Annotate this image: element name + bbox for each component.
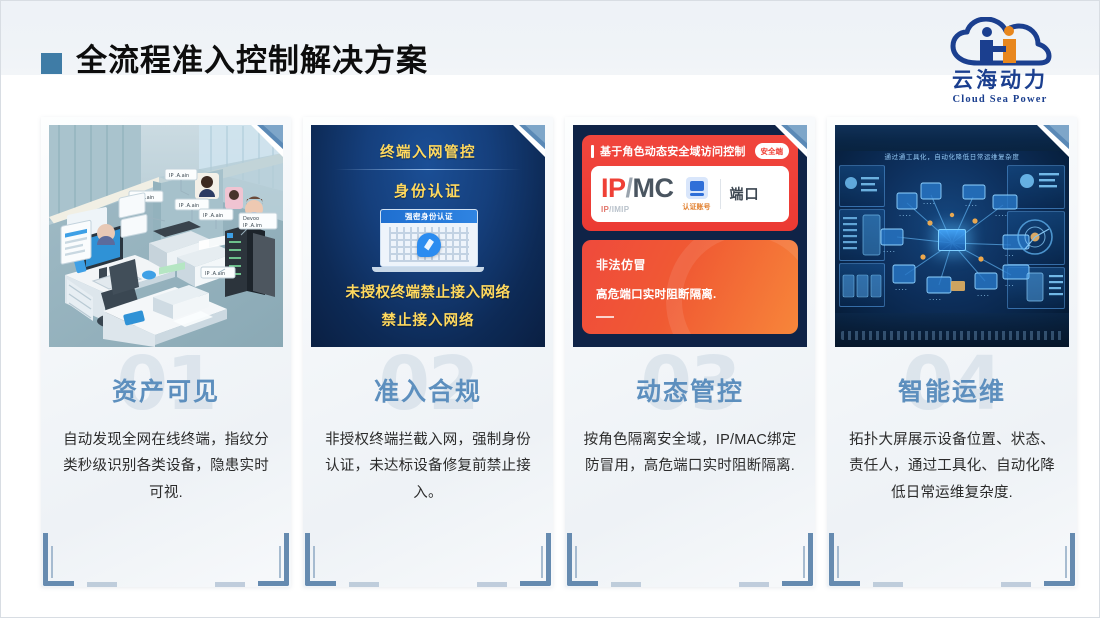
auth-line-1: 未授权终端禁止接入网络 (311, 281, 545, 302)
auth-line-2: 禁止接入网络 (311, 309, 545, 330)
ip-mc-label: IP/MC (601, 175, 674, 202)
vertical-divider (720, 179, 721, 209)
rbac-bottom-line-1: 非法仿冒 (596, 256, 784, 273)
imip-small-text: /IMIP (609, 205, 629, 214)
rbac-bottom-dash (596, 316, 614, 318)
feature-card-asset-visibility[interactable]: IP .A.ain IP .A.ain IP .A.ain IP .A.ain … (41, 117, 291, 587)
page-title-row: 全流程准入控制解决方案 (41, 45, 428, 76)
card-4-title: 智能运维 (845, 379, 1059, 407)
slide: 全流程准入控制解决方案 云海动力 Cloud Sea Power (0, 0, 1100, 618)
rbac-white-panel: IP/MC IP/IMIP 认证账号 端口 (591, 166, 789, 222)
ip-small-text: IP (601, 205, 609, 214)
svg-text:IP .A.ain: IP .A.ain (203, 213, 223, 219)
card-1-title: 资产可见 (59, 379, 273, 407)
svg-text:• • • •: • • • • (977, 294, 989, 298)
console-keyboard (841, 331, 1063, 340)
card-4-body: 04 智能运维 拓扑大屏展示设备位置、状态、责任人，通过工具化、自动化降低日常运… (827, 355, 1077, 587)
rbac-heading: 基于角色动态安全域访问控制 (600, 143, 746, 159)
noc-big-screen: 通过通工具化，自动化降低日常运维复杂度 (835, 125, 1069, 347)
cloud-people-logo-icon (947, 17, 1053, 69)
rbac-banner: 基于角色动态安全域访问控制 安全端 IP/MC IP/IMIP 认证账号 (573, 125, 807, 347)
svg-text:• • • •: • • • • (965, 204, 977, 208)
auth-account-label: 认证账号 (683, 202, 711, 212)
svg-text:Devoo: Devoo (243, 216, 259, 222)
accent-tick-icon (591, 145, 594, 158)
svg-text:• • • •: • • • • (895, 288, 907, 292)
card-2-description: 非授权终端拦截入网，强制身份认证，未达标设备修复前禁止接入。 (321, 427, 535, 507)
rbac-bottom-panel: 非法仿冒 高危端口实时阻断隔离. (582, 240, 798, 334)
slash-text: / (626, 173, 633, 203)
card-3-description: 按角色隔离安全域，IP/MAC绑定防冒用，高危端口实时阻断隔离. (583, 427, 797, 481)
core-node-icon (938, 229, 966, 251)
card-2-illustration: 终端入网管控 身份认证 强密身份认证 未授权终端禁止接入网络 (311, 125, 545, 347)
office-scene-svg: IP .A.ain IP .A.ain IP .A.ain IP .A.ain … (49, 125, 283, 347)
certificate-icon (686, 177, 708, 199)
mc-text: MC (633, 173, 674, 203)
laptop-screen-body (381, 223, 477, 266)
ip-mc-block: IP/MC IP/IMIP (601, 175, 674, 214)
corner-flag-icon (1036, 125, 1069, 158)
svg-text:• • • •: • • • • (995, 214, 1007, 218)
ip-imip-sublabel: IP/IMIP (601, 205, 674, 214)
card-3-body: 03 动态管控 按角色隔离安全域，IP/MAC绑定防冒用，高危端口实时阻断隔离. (565, 355, 815, 587)
title-bullet-icon (41, 53, 62, 74)
svg-text:• • •: • • • (1005, 284, 1014, 288)
feature-card-intelligent-ops[interactable]: 通过通工具化，自动化降低日常运维复杂度 (827, 117, 1077, 587)
card-4-illustration: 通过通工具化，自动化降低日常运维复杂度 (835, 125, 1069, 347)
laptop-illustration: 强密身份认证 (380, 209, 476, 271)
identity-auth-banner: 终端入网管控 身份认证 强密身份认证 未授权终端禁止接入网络 (311, 125, 545, 347)
rbac-bottom-line-2: 高危端口实时阻断隔离. (596, 286, 784, 302)
card-4-description: 拓扑大屏展示设备位置、状态、责任人，通过工具化、自动化降低日常运维复杂度. (845, 427, 1059, 507)
ip-text: IP (601, 173, 626, 203)
auth-divider (335, 169, 521, 170)
feature-cards-row: IP .A.ain IP .A.ain IP .A.ain IP .A.ain … (41, 117, 1067, 587)
svg-text:IP .A.ain: IP .A.ain (205, 271, 225, 277)
rbac-top-panel: 基于角色动态安全域访问控制 安全端 IP/MC IP/IMIP 认证账号 (582, 135, 798, 231)
corner-flag-icon (512, 125, 545, 158)
logo-english-name: Cloud Sea Power (953, 95, 1048, 106)
auth-heading: 终端入网管控 (311, 141, 545, 162)
card-1-description: 自动发现全网在线终端，指纹分类秒级识别各类设备，隐患实时可视. (59, 427, 273, 507)
card-1-body: 01 资产可见 自动发现全网在线终端，指纹分类秒级识别各类设备，隐患实时可视. (41, 355, 291, 587)
isometric-office-illustration: IP .A.ain IP .A.ain IP .A.ain IP .A.ain … (49, 125, 283, 347)
laptop-titlebar: 强密身份认证 (381, 210, 477, 223)
svg-text:• • • •: • • • • (923, 202, 935, 206)
card-2-body: 02 准入合规 非授权终端拦截入网，强制身份认证，未达标设备修复前禁止接入。 (303, 355, 553, 587)
card-3-title: 动态管控 (583, 379, 797, 407)
auth-account-block: 认证账号 (683, 177, 711, 212)
svg-text:• • • •: • • • • (899, 214, 911, 218)
svg-text:• • •: • • • (1005, 254, 1014, 258)
laptop-screen: 强密身份认证 (380, 209, 478, 267)
rbac-header-row: 基于角色动态安全域访问控制 安全端 (591, 143, 789, 159)
card-2-title: 准入合规 (321, 379, 535, 407)
auth-subheading: 身份认证 (311, 180, 545, 201)
feature-card-access-compliance[interactable]: 终端入网管控 身份认证 强密身份认证 未授权终端禁止接入网络 (303, 117, 553, 587)
laptop-base (372, 267, 484, 272)
svg-text:IP .A.im: IP .A.im (243, 223, 262, 229)
corner-flag-icon (774, 125, 807, 158)
svg-text:• • • •: • • • • (929, 298, 941, 302)
corner-flag-icon (250, 125, 283, 158)
logo-chinese-name: 云海动力 (952, 70, 1048, 91)
feature-card-dynamic-control[interactable]: 基于角色动态安全域访问控制 安全端 IP/MC IP/IMIP 认证账号 (565, 117, 815, 587)
shield-check-icon (417, 233, 441, 257)
card-1-illustration: IP .A.ain IP .A.ain IP .A.ain IP .A.ain … (49, 125, 283, 347)
brand-logo: 云海动力 Cloud Sea Power (925, 17, 1075, 109)
svg-text:IP .A.ain: IP .A.ain (169, 173, 189, 179)
svg-text:• • • •: • • • • (883, 250, 895, 254)
card-3-illustration: 基于角色动态安全域访问控制 安全端 IP/MC IP/IMIP 认证账号 (573, 125, 807, 347)
port-label: 端口 (730, 184, 760, 204)
svg-text:IP .A.ain: IP .A.ain (179, 203, 199, 209)
page-title: 全流程准入控制解决方案 (76, 45, 428, 76)
